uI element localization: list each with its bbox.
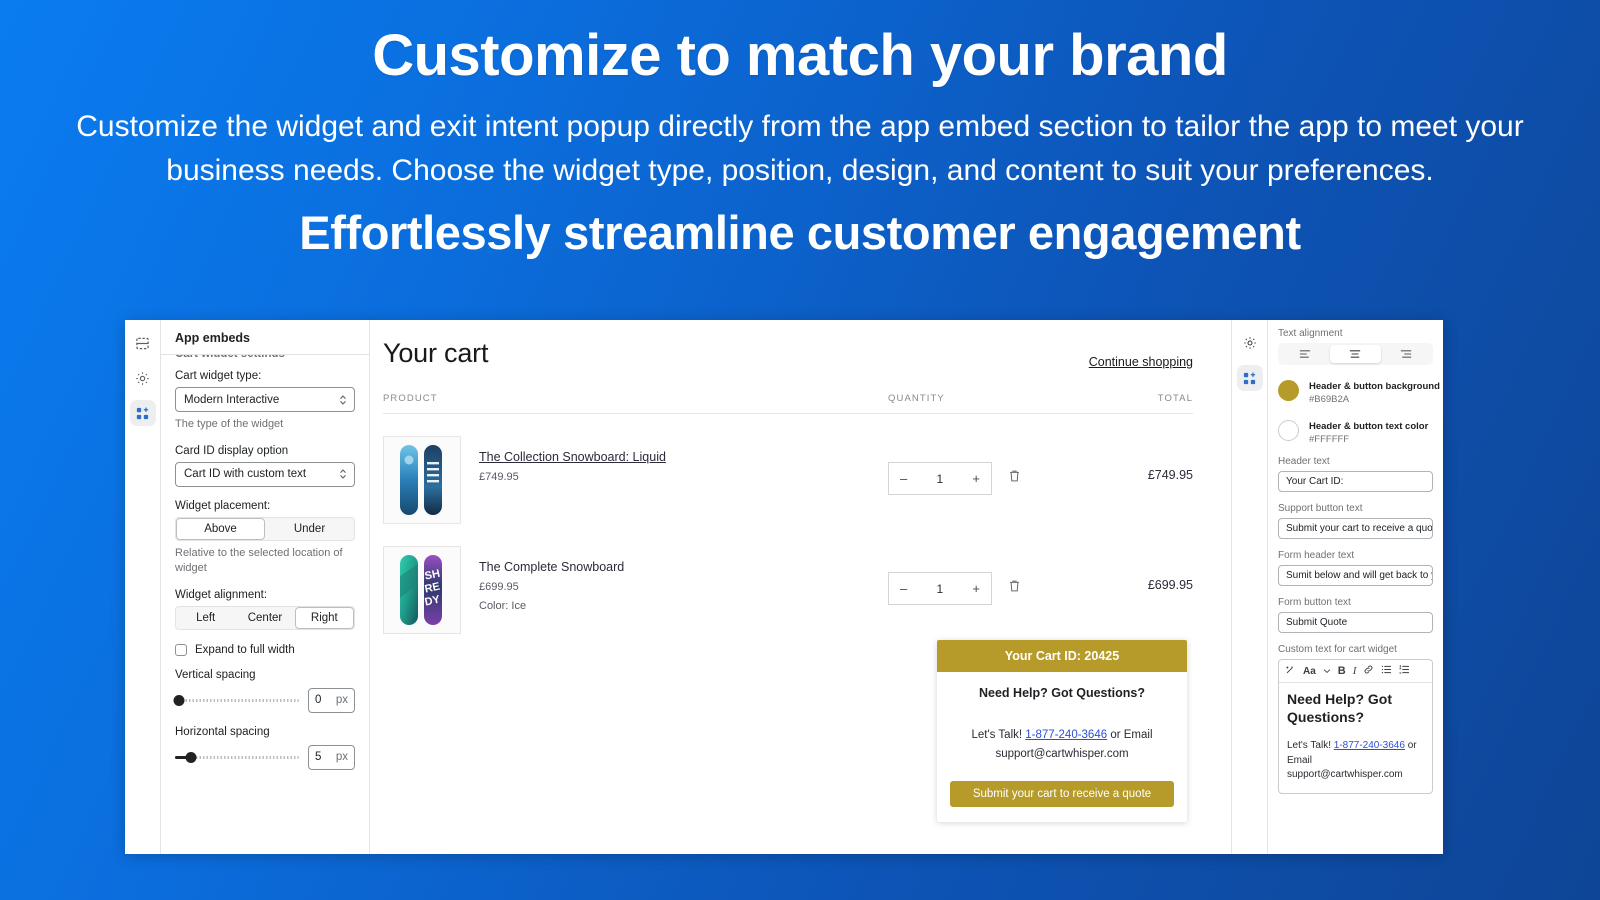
widget-alignment-label: Widget alignment: xyxy=(175,589,355,601)
quantity-decrease-button[interactable]: – xyxy=(900,471,907,486)
italic-icon[interactable]: I xyxy=(1353,665,1357,677)
total-cell: £699.95 xyxy=(1103,546,1193,592)
widget-placement-segmented[interactable]: Above Under xyxy=(175,517,355,541)
vertical-spacing-row: 0 px xyxy=(175,688,355,713)
submit-quote-button[interactable]: Submit your cart to receive a quote xyxy=(950,781,1174,807)
alignment-option-right[interactable]: Right xyxy=(295,607,354,629)
cart-header: Your cart Continue shopping xyxy=(370,320,1231,369)
text-alignment-label: Text alignment xyxy=(1278,328,1433,339)
header-text-label: Header text xyxy=(1278,456,1433,467)
continue-shopping-link[interactable]: Continue shopping xyxy=(1089,355,1193,369)
chevron-updown-icon xyxy=(339,468,347,480)
placement-option-under[interactable]: Under xyxy=(265,518,354,540)
alignment-option-left[interactable]: Left xyxy=(176,607,235,629)
vertical-spacing-value: 0 xyxy=(315,694,321,706)
settings-gear-icon[interactable] xyxy=(130,365,156,391)
product-price: £699.95 xyxy=(479,581,624,593)
quantity-value[interactable]: 1 xyxy=(936,472,943,486)
quantity-increase-button[interactable]: + xyxy=(972,471,980,486)
page-title: Customize to match your brand xyxy=(0,26,1600,87)
color-setting-row[interactable]: Header & button text color #FFFFFF xyxy=(1278,416,1433,445)
color-setting-name: Header & button text color xyxy=(1309,421,1428,432)
editor-heading: Need Help? Got Questions? xyxy=(1287,691,1424,726)
color-setting-hex: #B69B2A xyxy=(1309,394,1443,405)
cart-table: PRODUCT QUANTITY TOTAL xyxy=(383,393,1193,634)
cart-widget-type-help: The type of the widget xyxy=(175,417,355,432)
clipped-section-heading: Cart widget settings xyxy=(175,355,355,357)
remove-item-trash-icon[interactable] xyxy=(1008,469,1021,488)
column-header-quantity: QUANTITY xyxy=(888,393,1103,404)
editor-content[interactable]: Need Help? Got Questions? Let's Talk! 1-… xyxy=(1279,683,1432,793)
editor-body-prefix: Let's Talk! xyxy=(1287,740,1331,751)
right-icon-rail xyxy=(1231,320,1267,854)
color-setting-row[interactable]: Header & button background ... #B69B2A xyxy=(1278,376,1433,405)
horizontal-spacing-row: 5 px xyxy=(175,745,355,770)
chevron-down-icon[interactable] xyxy=(1323,665,1331,677)
app-screenshot-frame: App embeds Cart widget settings Cart wid… xyxy=(125,320,1443,854)
placement-option-above[interactable]: Above xyxy=(176,518,265,540)
product-name[interactable]: The Complete Snowboard xyxy=(479,560,624,574)
product-thumbnail[interactable] xyxy=(383,436,461,524)
table-row: SH RE DY The Complete Snowboard £699.95 … xyxy=(383,524,1193,634)
slider-track xyxy=(175,699,299,702)
support-button-text-label: Support button text xyxy=(1278,503,1433,514)
app-embeds-icon[interactable] xyxy=(130,400,156,426)
horizontal-spacing-slider[interactable] xyxy=(175,750,299,764)
vertical-spacing-label: Vertical spacing xyxy=(175,669,355,681)
slider-handle[interactable] xyxy=(186,752,197,763)
cart-widget-type-select[interactable]: Modern Interactive xyxy=(175,387,355,412)
horizontal-spacing-unit: px xyxy=(336,751,348,763)
color-setting-text: Header & button background ... #B69B2A xyxy=(1309,376,1443,405)
product-cell: The Collection Snowboard: Liquid £749.95 xyxy=(383,436,888,524)
settings-gear-icon[interactable] xyxy=(1237,330,1263,356)
custom-text-label: Custom text for cart widget xyxy=(1278,644,1433,655)
table-row: The Collection Snowboard: Liquid £749.95… xyxy=(383,414,1193,524)
form-header-text-input[interactable]: Sumit below and will get back to yc xyxy=(1278,565,1433,586)
right-settings-panel: Text alignment Header & button ba xyxy=(1267,320,1443,854)
form-button-text-label: Form button text xyxy=(1278,597,1433,608)
product-thumbnail[interactable]: SH RE DY xyxy=(383,546,461,634)
support-button-text-input[interactable]: Submit your cart to receive a quote xyxy=(1278,518,1433,539)
cart-widget-question: Need Help? Got Questions? xyxy=(950,686,1174,700)
color-setting-text: Header & button text color #FFFFFF xyxy=(1309,416,1428,445)
hero-section: Customize to match your brand Customize … xyxy=(0,0,1600,257)
rich-text-editor: Aa B I xyxy=(1278,659,1433,794)
form-header-text-label: Form header text xyxy=(1278,550,1433,561)
horizontal-spacing-value: 5 xyxy=(315,751,321,763)
horizontal-spacing-label: Horizontal spacing xyxy=(175,726,355,738)
color-setting-hex: #FFFFFF xyxy=(1309,434,1428,445)
vertical-spacing-slider[interactable] xyxy=(175,693,299,707)
widget-placement-label: Widget placement: xyxy=(175,500,355,512)
widget-placement-help: Relative to the selected location of wid… xyxy=(175,546,355,576)
quantity-cell: – 1 + xyxy=(888,546,1103,605)
product-info: The Complete Snowboard £699.95 Color: Ic… xyxy=(479,546,624,634)
product-variant: Color: Ice xyxy=(479,600,624,612)
align-center-icon[interactable] xyxy=(1330,345,1380,363)
quantity-value[interactable]: 1 xyxy=(936,582,943,596)
storefront-preview: Your cart Continue shopping PRODUCT QUAN… xyxy=(370,320,1231,854)
sections-icon[interactable] xyxy=(130,330,156,356)
cart-widget-contact-text: Let's Talk! 1-877-240-3646 or Email supp… xyxy=(950,726,1174,764)
editor-toolbar: Aa B I xyxy=(1279,660,1432,683)
expand-full-width-row[interactable]: Expand to full width xyxy=(175,644,355,656)
vertical-spacing-unit: px xyxy=(336,694,348,706)
quantity-increase-button[interactable]: + xyxy=(972,581,980,596)
color-swatch[interactable] xyxy=(1278,380,1299,401)
cart-widget-header: Your Cart ID: 20425 xyxy=(937,640,1187,672)
text-alignment-segmented[interactable] xyxy=(1278,343,1433,365)
vertical-spacing-input[interactable]: 0 px xyxy=(308,688,355,713)
product-info: The Collection Snowboard: Liquid £749.95 xyxy=(479,436,666,524)
contact-middle: or Email xyxy=(1107,729,1152,741)
numbered-list-icon[interactable] xyxy=(1399,664,1410,678)
panel-heading: App embeds xyxy=(161,320,369,355)
font-size-icon[interactable]: Aa xyxy=(1303,666,1316,677)
total-cell: £749.95 xyxy=(1103,436,1193,482)
support-email: support@cartwhisper.com xyxy=(995,748,1128,760)
editor-phone-link[interactable]: 1-877-240-3646 xyxy=(1334,740,1405,751)
link-icon[interactable] xyxy=(1363,664,1374,678)
support-phone-link[interactable]: 1-877-240-3646 xyxy=(1025,729,1107,741)
hero-secondary-title: Effortlessly streamline customer engagem… xyxy=(0,208,1600,257)
cart-widget-type-label: Cart widget type: xyxy=(175,370,355,382)
panel-body: Cart widget settings Cart widget type: M… xyxy=(161,355,369,854)
form-button-text-input[interactable]: Submit Quote xyxy=(1278,612,1433,633)
widget-alignment-segmented[interactable]: Left Center Right xyxy=(175,606,355,630)
left-settings-panel: App embeds Cart widget settings Cart wid… xyxy=(161,320,370,854)
bold-icon[interactable]: B xyxy=(1338,665,1346,677)
quantity-stepper[interactable]: – 1 + xyxy=(888,572,992,605)
card-id-display-label: Card ID display option xyxy=(175,445,355,457)
cart-widget-body: Need Help? Got Questions? Let's Talk! 1-… xyxy=(937,672,1187,822)
align-right-icon[interactable] xyxy=(1381,345,1431,363)
cart-widget-type-value: Modern Interactive xyxy=(184,394,279,406)
app-embeds-icon[interactable] xyxy=(1237,365,1263,391)
horizontal-spacing-input[interactable]: 5 px xyxy=(308,745,355,770)
slider-handle[interactable] xyxy=(173,695,184,706)
align-left-icon[interactable] xyxy=(1280,345,1330,363)
header-text-input[interactable]: Your Cart ID: xyxy=(1278,471,1433,492)
alignment-option-center[interactable]: Center xyxy=(235,607,294,629)
column-header-total: TOTAL xyxy=(1103,393,1193,404)
quantity-stepper[interactable]: – 1 + xyxy=(888,462,992,495)
cart-title: Your cart xyxy=(383,338,488,369)
product-cell: SH RE DY The Complete Snowboard £699.95 … xyxy=(383,546,888,634)
cart-widget-card: Your Cart ID: 20425 Need Help? Got Quest… xyxy=(937,640,1187,822)
column-header-product: PRODUCT xyxy=(383,393,888,404)
editor-paragraph: Let's Talk! 1-877-240-3646 or Email supp… xyxy=(1287,739,1424,783)
color-swatch[interactable] xyxy=(1278,420,1299,441)
product-name[interactable]: The Collection Snowboard: Liquid xyxy=(479,450,666,464)
bullet-list-icon[interactable] xyxy=(1381,664,1392,678)
contact-prefix: Let's Talk! xyxy=(972,729,1023,741)
chevron-updown-icon xyxy=(339,394,347,406)
cart-column-headers: PRODUCT QUANTITY TOTAL xyxy=(383,393,1193,414)
card-id-display-select[interactable]: Cart ID with custom text xyxy=(175,462,355,487)
expand-full-width-label: Expand to full width xyxy=(195,644,295,656)
remove-item-trash-icon[interactable] xyxy=(1008,579,1021,598)
quantity-cell: – 1 + xyxy=(888,436,1103,495)
product-price: £749.95 xyxy=(479,471,666,483)
magic-icon[interactable] xyxy=(1285,664,1296,678)
expand-full-width-checkbox[interactable] xyxy=(175,644,187,656)
hero-subtitle: Customize the widget and exit intent pop… xyxy=(65,105,1535,194)
quantity-decrease-button[interactable]: – xyxy=(900,581,907,596)
left-icon-rail xyxy=(125,320,161,854)
color-setting-name: Header & button background ... xyxy=(1309,381,1443,392)
card-id-display-value: Cart ID with custom text xyxy=(184,468,306,480)
